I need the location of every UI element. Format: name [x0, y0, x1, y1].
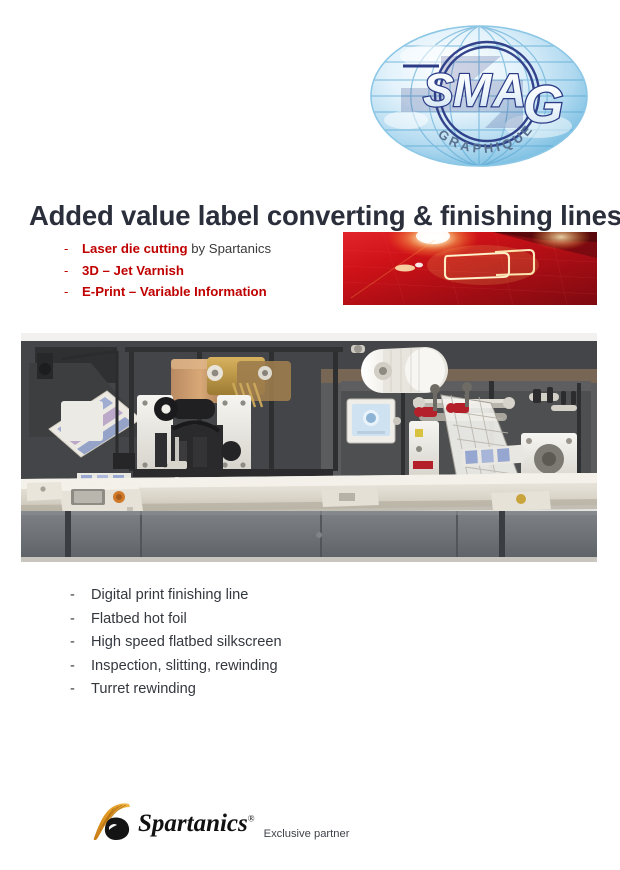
page-title: Added value label converting & finishing… [29, 201, 604, 232]
bullet-dash: - [70, 631, 91, 655]
capability-item-label: Flatbed hot foil [91, 608, 187, 632]
feature-item-bold: 3D – Jet Varnish [82, 263, 184, 278]
capability-list: - Digital print finishing line - Flatbed… [70, 584, 490, 702]
bullet-dash: - [70, 655, 91, 679]
converting-finishing-line-photo [21, 333, 597, 562]
spartan-helmet-icon [88, 800, 132, 842]
svg-text:S: S [423, 64, 454, 116]
spartanics-wordmark: Spartanics® [138, 811, 255, 836]
bullet-dash: - [70, 678, 91, 702]
list-item: - Laser die cutting by Spartanics [64, 238, 334, 260]
feature-item-bold: E-Print – Variable Information [82, 284, 267, 299]
bullet-dash: - [70, 584, 91, 608]
capability-item-label: Turret rewinding [91, 678, 196, 702]
footer: Spartanics® Exclusive partner [88, 800, 349, 842]
capability-item-label: High speed flatbed silkscreen [91, 631, 282, 655]
bullet-dash: - [70, 608, 91, 632]
svg-text:A: A [492, 64, 526, 116]
feature-item-plain: by Spartanics [188, 241, 272, 256]
list-item: - Turret rewinding [70, 678, 490, 702]
list-item: - Flatbed hot foil [70, 608, 490, 632]
feature-item-bold: Laser die cutting [82, 241, 188, 256]
svg-text:M: M [453, 64, 493, 116]
bullet-dash: - [64, 260, 82, 282]
list-item: - E-Print – Variable Information [64, 281, 334, 303]
list-item: - Inspection, slitting, rewinding [70, 655, 490, 679]
exclusive-partner-label: Exclusive partner [264, 828, 350, 840]
feature-item-label: 3D – Jet Varnish [82, 260, 184, 282]
feature-item-label: E-Print – Variable Information [82, 281, 267, 303]
capability-item-label: Inspection, slitting, rewinding [91, 655, 278, 679]
smag-graphique-logo: S M A G GRAPHIQUE [368, 22, 590, 170]
bullet-dash: - [64, 281, 82, 303]
capability-item-label: Digital print finishing line [91, 584, 248, 608]
spartanics-wordmark-text: Spartanics [138, 810, 248, 837]
feature-item-label: Laser die cutting by Spartanics [82, 238, 271, 260]
laser-die-cutting-photo [343, 232, 597, 305]
bullet-dash: - [64, 238, 82, 260]
feature-list: - Laser die cutting by Spartanics - 3D –… [64, 238, 334, 303]
list-item: - 3D – Jet Varnish [64, 260, 334, 282]
list-item: - High speed flatbed silkscreen [70, 631, 490, 655]
registered-mark: ® [248, 814, 255, 824]
list-item: - Digital print finishing line [70, 584, 490, 608]
